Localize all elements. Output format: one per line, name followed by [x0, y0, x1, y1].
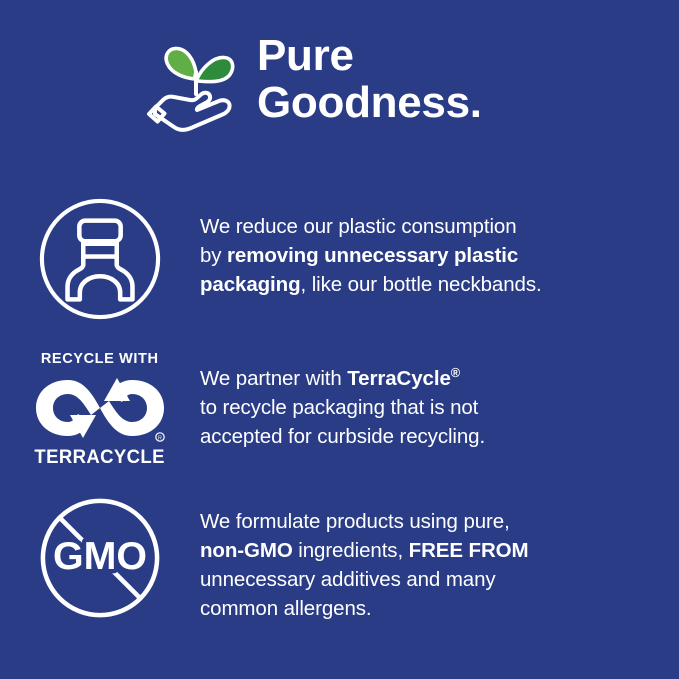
feature-text-line: unnecessary additives and many — [200, 565, 661, 594]
feature-text-line: to recycle packaging that is not — [200, 393, 661, 422]
feature-text-line: packaging, like our bottle neckbands. — [200, 270, 661, 299]
terracycle-top-text: RECYCLE WITH — [41, 350, 159, 367]
feature-icon-cell: RECYCLE WITH R — [0, 348, 200, 468]
page-title-line-1: Pure — [257, 32, 482, 79]
feature-text-line: We formulate products using pure, — [200, 507, 661, 536]
infinity-arrows-icon: R — [30, 371, 170, 445]
bottle-in-circle-icon — [37, 196, 163, 322]
feature-text-line: We reduce our plastic consumption — [200, 212, 661, 241]
no-gmo-icon: GMO GMO — [37, 495, 163, 621]
gmo-label: GMO — [53, 534, 147, 578]
feature-text-line: non-GMO ingredients, FREE FROM — [200, 536, 661, 565]
registered-mark: ® — [451, 365, 460, 380]
feature-text-terracycle: We partner with TerraCycle® to recycle p… — [200, 348, 679, 451]
feature-icon-cell — [0, 196, 200, 322]
terracycle-logo: RECYCLE WITH R — [30, 350, 170, 468]
feature-icon-cell: GMO GMO — [0, 495, 200, 621]
feature-row-plastic: We reduce our plastic consumption by rem… — [0, 196, 679, 322]
feature-text-gmo: We formulate products using pure, non-GM… — [200, 495, 679, 623]
page-title: Pure Goodness. — [257, 30, 482, 126]
feature-text-line: common allergens. — [200, 594, 661, 623]
feature-row-terracycle: RECYCLE WITH R — [0, 348, 679, 468]
feature-text-line: accepted for curbside recycling. — [200, 422, 661, 451]
feature-row-gmo: GMO GMO We formulate products using pure… — [0, 495, 679, 623]
hand-holding-plant-icon — [145, 34, 247, 136]
feature-text-plastic: We reduce our plastic consumption by rem… — [200, 196, 679, 299]
feature-text-line: by removing unnecessary plastic — [200, 241, 661, 270]
pure-goodness-panel: Pure Goodness. We reduce our plastic con… — [0, 0, 679, 679]
page-title-line-2: Goodness. — [257, 79, 482, 126]
header: Pure Goodness. — [0, 30, 679, 155]
feature-text-line: We partner with TerraCycle® — [200, 364, 661, 393]
terracycle-bottom-text: TERRACYCLE — [35, 447, 165, 468]
svg-text:R: R — [158, 435, 162, 441]
